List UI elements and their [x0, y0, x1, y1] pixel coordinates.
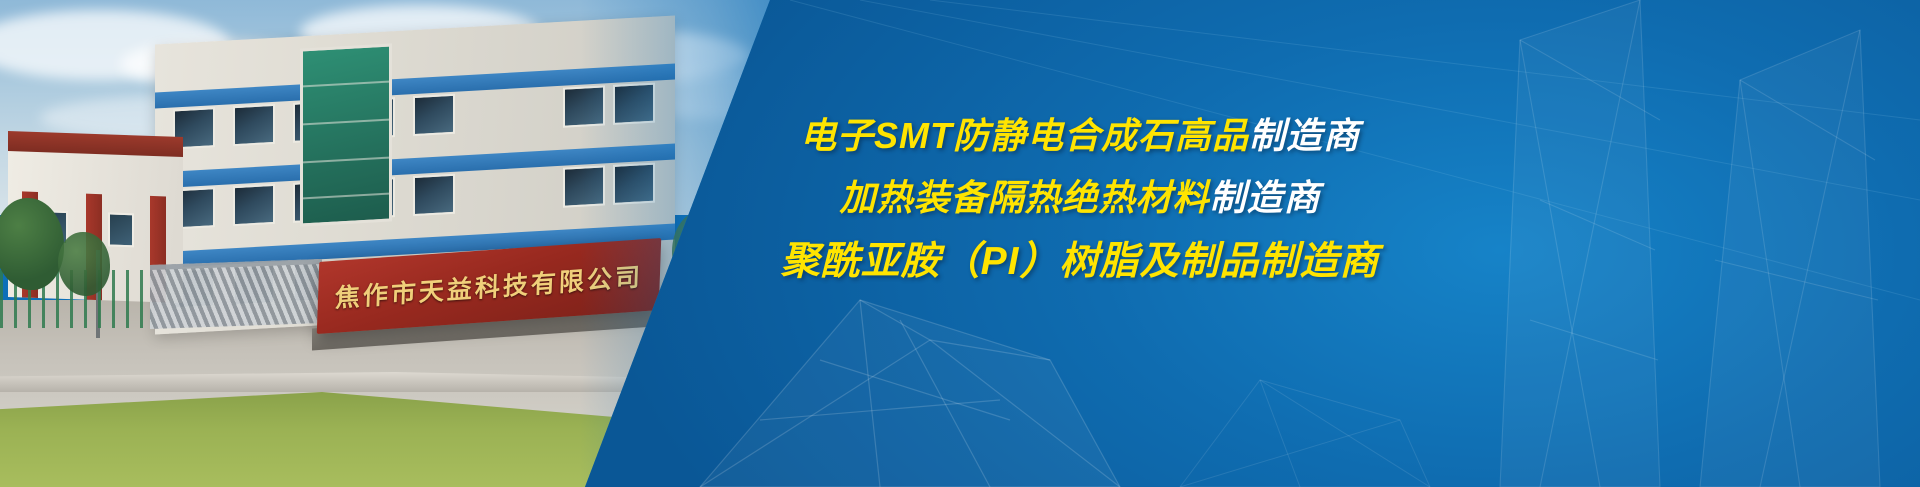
tree — [58, 232, 110, 296]
headline-block: 电子SMT防静电合成石高品制造商 加热装备隔热绝热材料制造商 聚酰亚胺（PI）树… — [690, 118, 1470, 281]
sliding-gate — [150, 259, 322, 329]
window — [413, 174, 455, 216]
window — [108, 212, 134, 247]
headline-3: 聚酰亚胺（PI）树脂及制品制造商 — [690, 242, 1470, 281]
window — [413, 94, 455, 136]
window — [233, 104, 275, 146]
headline-1-yellow: 电子SMT防静电合成石高品 — [800, 115, 1249, 156]
headline-2-yellow: 加热装备隔热绝热材料 — [839, 177, 1209, 218]
headline-2-white: 制造商 — [1210, 177, 1321, 218]
headline-1-white: 制造商 — [1249, 115, 1360, 156]
headline-2: 加热装备隔热绝热材料制造商 — [690, 180, 1470, 216]
headline-1: 电子SMT防静电合成石高品制造商 — [690, 118, 1470, 154]
window — [233, 184, 275, 226]
headline-3-yellow: 聚酰亚胺（PI）树脂及制品制造商 — [781, 240, 1380, 283]
green-glass-panel — [300, 43, 392, 226]
hero-banner: 焦作市天益科技有限公司 — [0, 0, 1920, 487]
